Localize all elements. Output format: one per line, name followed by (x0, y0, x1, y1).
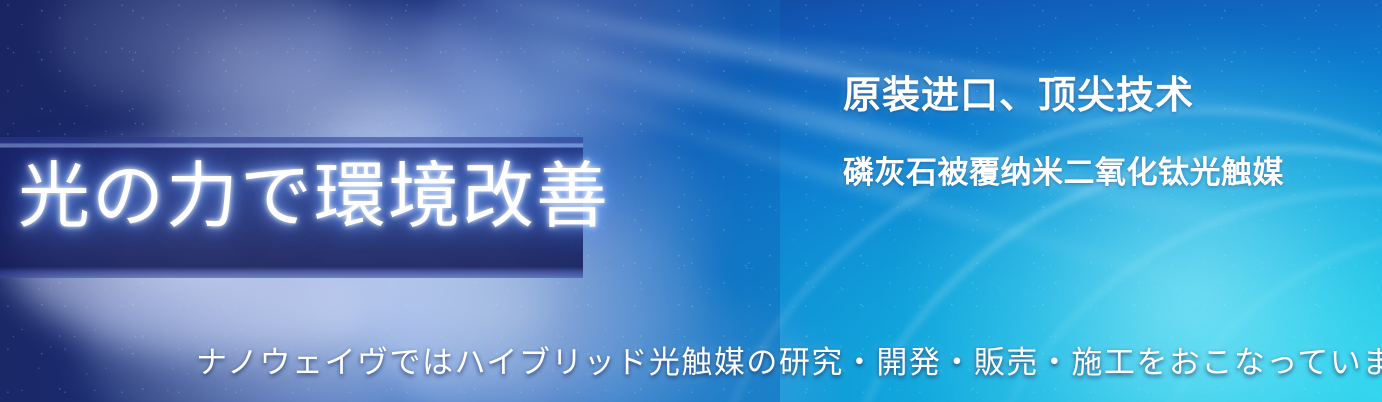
tagline-primary: 原装进口、顶尖技术 (843, 76, 1194, 114)
hero-banner: 光の力で環境改善 原装进口、顶尖技术 磷灰石被覆纳米二氧化钛光触媒 ナノウェイヴ… (0, 0, 1382, 402)
tagline-secondary: 磷灰石被覆纳米二氧化钛光触媒 (843, 158, 1284, 189)
headline-text: 光の力で環境改善 (18, 160, 610, 232)
strapline-text: ナノウェイヴではハイブリッド光触媒の研究・開発・販売・施工をおこなっています (196, 348, 1382, 379)
